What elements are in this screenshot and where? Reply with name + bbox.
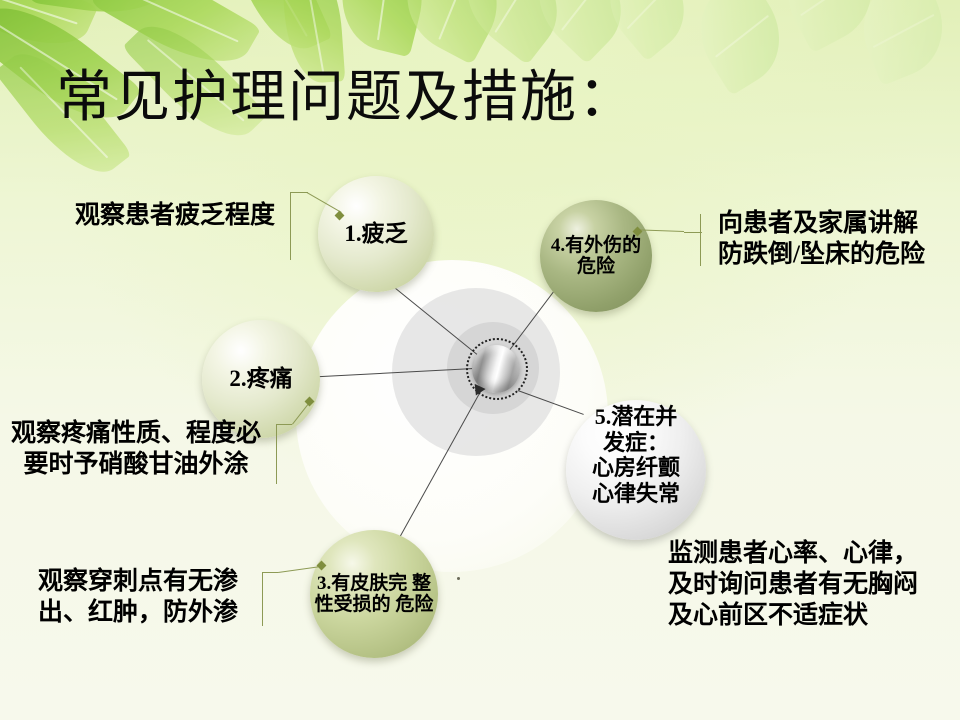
node-pain-label: 2.疼痛	[225, 366, 296, 392]
measure-complications-label: 监测患者心率、心律， 及时询问患者有无胸闷 及心前区不适症状	[668, 538, 960, 631]
leaf-icon	[848, 0, 958, 86]
page-title: 常见护理问题及措施：	[56, 52, 636, 133]
leaf-icon	[681, 0, 800, 96]
node-skin-integrity-label: 3.有皮肤完 整性受损的 危险	[310, 573, 438, 616]
node-fatigue[interactable]: 1.疲乏	[318, 176, 434, 292]
leader-line-pain-horizontal	[276, 424, 292, 425]
leader-line-trauma-vertical	[700, 214, 701, 266]
node-complications-label: 5.潜在并 发症： 心房纤颤 心律失常	[566, 404, 706, 506]
leader-line-pain-vertical	[276, 424, 277, 484]
node-fatigue-label: 1.疲乏	[340, 221, 411, 247]
leaf-icon	[330, 0, 435, 57]
measure-skin-label: 观察穿刺点有无渗 出、红肿，防外渗	[20, 566, 256, 628]
leader-line-skin-horizontal	[262, 572, 278, 573]
stray-dot	[457, 577, 460, 580]
leader-line-trauma-horizontal	[684, 232, 702, 233]
leaf-icon	[770, 0, 891, 53]
slide-canvas: 常见护理问题及措施： 1.疲乏 观察患者疲乏程度 2.疼痛 观察疼痛性质、程度必…	[0, 0, 960, 720]
measure-pain-label: 观察疼痛性质、程度必 要时予硝酸甘油外涂	[2, 418, 270, 480]
node-trauma-risk[interactable]: 4.有外伤的 危险	[540, 200, 652, 312]
measure-fatigue-label: 观察患者疲乏程度	[56, 200, 294, 231]
node-trauma-risk-label: 4.有外伤的 危险	[540, 235, 652, 278]
node-skin-integrity[interactable]: 3.有皮肤完 整性受损的 危险	[310, 530, 438, 658]
leader-line-skin-vertical	[262, 572, 263, 626]
leaf-icon	[31, 0, 170, 21]
leader-line-fatigue-vertical	[290, 192, 291, 260]
measure-trauma-label: 向患者及家属讲解 防跌倒/坠床的危险	[718, 208, 960, 270]
